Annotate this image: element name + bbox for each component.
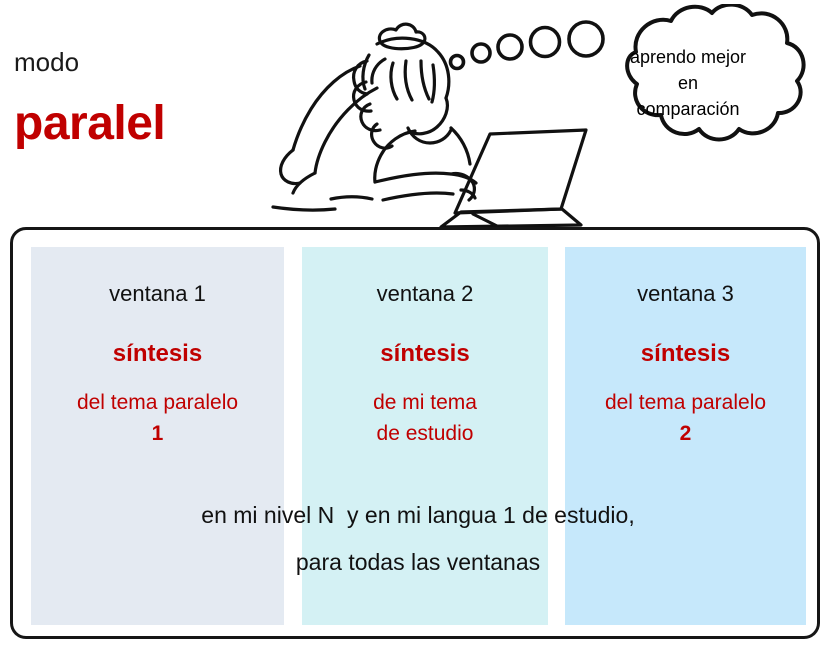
thought-dot-4: [531, 28, 560, 57]
thought-dot-1: [451, 56, 464, 69]
thought-dot-3: [498, 35, 522, 59]
mode-title: paralel: [14, 96, 165, 152]
thought-bubble-line-3: comparación: [588, 96, 788, 122]
window-panel-1-desc-line-1: del tema paralelo: [31, 387, 284, 418]
window-panel-2-synthesis: síntesis: [302, 340, 548, 368]
thought-dot-2: [472, 44, 490, 62]
windows-frame: ventana 1 síntesis del tema paralelo 1 v…: [10, 227, 820, 639]
thought-bubble-line-1: aprendo mejor: [588, 44, 788, 70]
window-panel-3-description: del tema paralelo 2: [565, 387, 806, 449]
header-area: modo paralel: [0, 0, 834, 227]
thought-bubble-text: aprendo mejor en comparación: [588, 44, 788, 122]
footer-note: en mi nivel N y en mi langua 1 de estudi…: [13, 492, 823, 586]
window-panel-1-title: ventana 1: [31, 281, 284, 307]
window-panel-3-desc-line-1: del tema paralelo: [565, 387, 806, 418]
thought-bubble-line-2: en: [588, 70, 788, 96]
window-panel-1-synthesis: síntesis: [31, 340, 284, 368]
footer-note-line-2: para todas las ventanas: [13, 539, 823, 586]
window-panel-1-description: del tema paralelo 1: [31, 387, 284, 449]
window-panel-3-desc-line-2: 2: [565, 418, 806, 449]
window-panel-2-desc-line-1: de mi tema: [302, 387, 548, 418]
window-panel-3-synthesis: síntesis: [565, 340, 806, 368]
footer-note-line-1: en mi nivel N y en mi langua 1 de estudi…: [13, 492, 823, 539]
window-panel-1-desc-line-2: 1: [31, 418, 284, 449]
window-panel-2-desc-line-2: de estudio: [302, 418, 548, 449]
window-panel-2-description: de mi tema de estudio: [302, 387, 548, 449]
window-panel-3-title: ventana 3: [565, 281, 806, 307]
window-panel-2-title: ventana 2: [302, 281, 548, 307]
mode-label: modo: [14, 47, 79, 77]
